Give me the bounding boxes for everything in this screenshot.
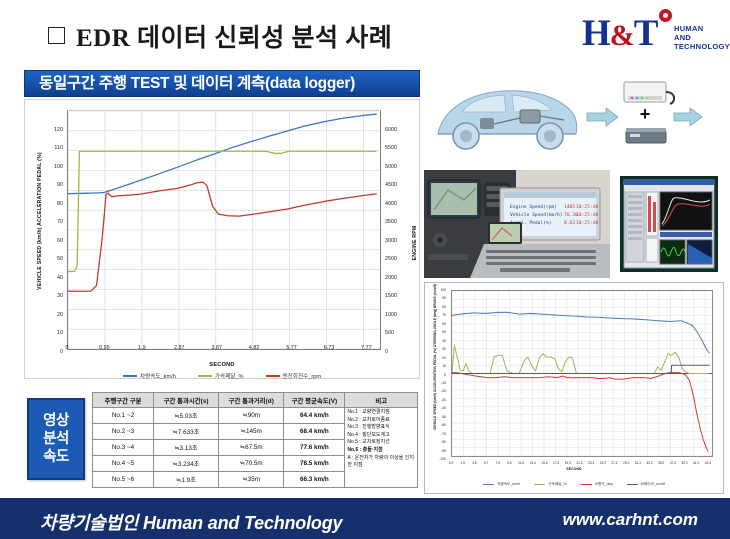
main-y2-tick: 2500 xyxy=(385,256,409,262)
main-y-tick: 30 xyxy=(41,293,63,299)
main-x-tick: 5.77 xyxy=(280,345,304,351)
remark-item: No.1 : 교량연결지점 xyxy=(347,409,415,417)
legend-item: 가속페달_% xyxy=(198,372,244,380)
main-chart-svg xyxy=(68,111,380,349)
square-bullet-icon xyxy=(48,27,65,44)
main-y-tick: 10 xyxy=(41,330,63,336)
legend-swatch xyxy=(627,484,638,486)
main-x-tick: 3.87 xyxy=(205,345,229,351)
secondary-y-tick: 70 xyxy=(429,313,446,317)
main-chart-y2-axis-title: ENGINE RPM xyxy=(412,183,418,303)
table-cell-time: ≒3.234초 xyxy=(153,456,218,472)
secondary-y-tick: -90 xyxy=(429,449,446,453)
secondary-y-tick: 40 xyxy=(429,339,446,343)
legend-swatch xyxy=(123,375,137,377)
interior-photo-svg: Engine Speed(rpm)148510:25:48 Vehicle Sp… xyxy=(424,170,610,278)
secondary-y-tick: 10 xyxy=(429,364,446,368)
arrow-right-icon-2 xyxy=(674,108,702,126)
legend-swatch xyxy=(483,484,494,486)
secondary-x-tick: 43.3 xyxy=(700,461,716,465)
secondary-y-tick: -40 xyxy=(429,406,446,410)
secondary-chart-panel: VEHICLE SPEED (km/h) ACCELERATION PEDAL … xyxy=(424,282,724,494)
flow-diagram-svg: + xyxy=(424,68,724,166)
table-header-1: 주행구간 구분 xyxy=(93,393,154,408)
secondary-y-tick: -50 xyxy=(429,415,446,419)
logo-t: T xyxy=(634,13,658,54)
main-y2-tick: 6000 xyxy=(385,127,409,133)
svg-text:Engine Speed(rpm): Engine Speed(rpm) xyxy=(510,204,557,210)
main-chart-panel: VEHICLE SPEED (km/h) ACCELERATION PEDAL … xyxy=(24,99,420,379)
logo-wordmark: H&T xyxy=(582,15,657,52)
secondary-chart-legend: 차량속도_km/h가속페달_%조향각_deg브레이크_on/off xyxy=(425,482,723,487)
remark-item: No.6 : 충돌·지점 xyxy=(347,447,415,455)
secondary-y-tick: -30 xyxy=(429,398,446,402)
legend-item: 가속페달_% xyxy=(534,482,566,487)
main-chart-gridlines xyxy=(68,111,380,349)
main-chart-x-axis-title: SECOND xyxy=(25,362,419,368)
remark-item: No.3 : 진행방향표식 xyxy=(347,424,415,432)
main-y-tick: 20 xyxy=(41,312,63,318)
secondary-y-tick: -10 xyxy=(429,381,446,385)
data-logger-flow-image: + xyxy=(424,68,724,166)
main-x-tick: 6.73 xyxy=(317,345,341,351)
hdd-device-icon xyxy=(626,128,666,143)
secondary-chart-plot-area xyxy=(451,290,713,457)
main-y-tick: 70 xyxy=(41,219,63,225)
table-cell-distance: ≒145m xyxy=(219,424,284,440)
legend-item: 엔진회전수_rpm xyxy=(266,372,321,380)
table-header-2: 구간 통과시간(s) xyxy=(153,393,218,408)
table-cell-section: No.1 ~2 xyxy=(93,408,154,424)
section-speed-table: 주행구간 구분구간 통과시간(s)구간 통과거리(d)구간 평균속도(V)비고 … xyxy=(92,392,418,488)
table-row: No.1 ~2≒5.03초≒90m64.4 km/hNo.1 : 교량연결지점N… xyxy=(93,408,418,424)
svg-text:10:25:48: 10:25:48 xyxy=(576,212,598,218)
secondary-y-tick: 20 xyxy=(429,356,446,360)
secondary-y-tick: -60 xyxy=(429,423,446,427)
table-cell-section: No.2 ~3 xyxy=(93,424,154,440)
table-cell-time: ≒5.03초 xyxy=(153,408,218,424)
video-analysis-speed-label: 영상 분석 속도 xyxy=(27,398,85,480)
secondary-chart-x-axis-title: SECOND xyxy=(425,467,723,471)
table-cell-section: No.5 ~6 xyxy=(93,472,154,488)
main-y-tick: 90 xyxy=(41,182,63,188)
main-y2-tick: 0 xyxy=(385,349,409,355)
main-y-tick: 110 xyxy=(41,145,63,151)
logo-h: H xyxy=(582,13,610,54)
secondary-y-tick: -70 xyxy=(429,432,446,436)
legend-swatch xyxy=(266,375,280,377)
main-y2-tick: 1500 xyxy=(385,293,409,299)
secondary-y-tick: 50 xyxy=(429,330,446,334)
vehicle-interior-photo: Engine Speed(rpm)148510:25:48 Vehicle Sp… xyxy=(424,170,610,278)
secondary-y-tick: 90 xyxy=(429,296,446,300)
legend-item: 브레이크_on/off xyxy=(627,482,665,487)
remark-item: A : 운전자가 차량의 이상을 인지한 지점 xyxy=(347,455,415,470)
speed-label-line2: 분석 xyxy=(43,431,69,448)
main-x-tick: 1.9 xyxy=(130,345,154,351)
svg-text:1485: 1485 xyxy=(564,204,575,210)
arrow-right-icon-1 xyxy=(587,108,618,126)
main-chart-plot-area xyxy=(67,110,381,350)
secondary-y-tick: 80 xyxy=(429,305,446,309)
svg-text:10:25:48: 10:25:48 xyxy=(576,220,598,226)
table-header-row: 주행구간 구분구간 통과시간(s)구간 통과거리(d)구간 평균속도(V)비고 xyxy=(93,393,418,408)
slide-footer: 차량기술법인 Human and Technology www.carhnt.c… xyxy=(0,498,730,539)
table-header-4: 구간 평균속도(V) xyxy=(284,393,345,408)
secondary-chart-svg xyxy=(452,291,712,456)
main-y-tick: 120 xyxy=(41,127,63,133)
table-cell-time: ≒7.633초 xyxy=(153,424,218,440)
legend-item: 차량속도_km/h xyxy=(123,372,176,380)
secondary-y-tick: 0 xyxy=(429,373,446,377)
svg-text:Vehicle Speed(km/h): Vehicle Speed(km/h) xyxy=(510,212,563,218)
company-logo: H&T HUMAN AND TECHNOLOGY xyxy=(582,9,722,61)
legend-item: 조향각_deg xyxy=(581,482,613,487)
table-cell-distance: ≒90m xyxy=(219,408,284,424)
main-y2-tick: 1000 xyxy=(385,312,409,318)
legend-label: 가속페달_% xyxy=(548,482,566,487)
section-banner-text: 동일구간 주행 TEST 및 데이터 계측(data logger) xyxy=(25,71,419,97)
table-cell-speed: 66.3 km/h xyxy=(284,472,345,488)
secondary-y-tick: -80 xyxy=(429,440,446,444)
analysis-software-screenshot xyxy=(614,170,724,278)
page-title: EDR 데이터 신뢰성 분석 사례 xyxy=(48,18,392,54)
main-x-tick: 0.95 xyxy=(92,345,116,351)
table-cell-remarks: No.1 : 교량연결지점No.2 : 교차로어종료No.3 : 진행방향표식N… xyxy=(345,408,418,488)
legend-swatch xyxy=(534,484,545,486)
secondary-y-tick: 100 xyxy=(429,288,446,292)
table-cell-distance: ≒35m xyxy=(219,472,284,488)
footer-company-name: 차량기술법인 Human and Technology xyxy=(40,509,342,535)
main-y-tick: 40 xyxy=(41,275,63,281)
main-x-tick: 7.77 xyxy=(354,345,378,351)
logo-tagline: HUMAN AND TECHNOLOGY xyxy=(674,24,730,51)
secondary-y-tick: 60 xyxy=(429,322,446,326)
main-y2-tick: 4500 xyxy=(385,182,409,188)
footer-website: www.carhnt.com xyxy=(563,510,698,530)
main-x-tick: 4.82 xyxy=(242,345,266,351)
logo-tagline-line3: TECHNOLOGY xyxy=(674,42,730,51)
table-header-5: 비고 xyxy=(345,393,418,408)
secondary-y-tick: -20 xyxy=(429,389,446,393)
remark-item: No.5 : 교차로정지선 xyxy=(347,439,415,447)
main-y-tick: 50 xyxy=(41,256,63,262)
svg-text:10:25:48: 10:25:48 xyxy=(576,204,598,210)
main-y2-tick: 4000 xyxy=(385,201,409,207)
main-y2-tick: 2000 xyxy=(385,275,409,281)
main-y2-tick: 500 xyxy=(385,330,409,336)
data-logger-device-icon xyxy=(624,82,674,104)
software-window-svg xyxy=(614,170,724,278)
table-cell-speed: 64.4 km/h xyxy=(284,408,345,424)
table-cell-time: ≒3.13초 xyxy=(153,440,218,456)
legend-label: 차량속도_km/h xyxy=(140,372,176,380)
table-cell-speed: 68.4 km/h xyxy=(284,424,345,440)
legend-label: 엔진회전수_rpm xyxy=(283,372,321,380)
main-x-tick: 0 xyxy=(55,345,79,351)
table-cell-speed: 78.5 km/h xyxy=(284,456,345,472)
legend-swatch xyxy=(198,375,212,377)
section-banner: 동일구간 주행 TEST 및 데이터 계측(data logger) xyxy=(24,70,420,97)
speed-label-line3: 속도 xyxy=(43,449,69,466)
main-chart-legend: 차량속도_km/h가속페달_%엔진회전수_rpm xyxy=(25,372,419,380)
table-cell-distance: ≒67.5m xyxy=(219,440,284,456)
logo-ampersand: & xyxy=(610,19,634,52)
main-y2-tick: 3500 xyxy=(385,219,409,225)
main-y-tick: 60 xyxy=(41,238,63,244)
plus-symbol: + xyxy=(640,104,651,124)
main-chart-series xyxy=(68,114,376,291)
legend-item: 차량속도_km/h xyxy=(483,482,520,487)
legend-swatch xyxy=(581,484,592,486)
table-header-3: 구간 통과거리(d) xyxy=(219,393,284,408)
table-cell-distance: ≒70.5m xyxy=(219,456,284,472)
main-y2-tick: 3000 xyxy=(385,238,409,244)
legend-label: 가속페달_% xyxy=(215,372,244,380)
main-y2-tick: 5500 xyxy=(385,145,409,151)
degree-circle-icon xyxy=(659,9,672,22)
main-y-tick: 100 xyxy=(41,164,63,170)
main-y2-tick: 5000 xyxy=(385,164,409,170)
secondary-y-tick: 30 xyxy=(429,347,446,351)
table-cell-section: No.4 ~5 xyxy=(93,456,154,472)
speed-label-line1: 영상 xyxy=(43,413,69,430)
legend-label: 브레이크_on/off xyxy=(641,482,665,487)
table-cell-speed: 77.6 km/h xyxy=(284,440,345,456)
page-title-text: EDR 데이터 신뢰성 분석 사례 xyxy=(76,25,392,52)
logo-tagline-line2: AND xyxy=(674,33,730,42)
logo-tagline-line1: HUMAN xyxy=(674,24,730,33)
table-cell-time: ≒1.9초 xyxy=(153,472,218,488)
svg-text:8.63: 8.63 xyxy=(564,220,575,226)
legend-label: 차량속도_km/h xyxy=(497,482,520,487)
legend-label: 조향각_deg xyxy=(595,482,613,487)
table-cell-section: No.3 ~4 xyxy=(93,440,154,456)
main-y-tick: 80 xyxy=(41,201,63,207)
main-x-tick: 2.87 xyxy=(167,345,191,351)
